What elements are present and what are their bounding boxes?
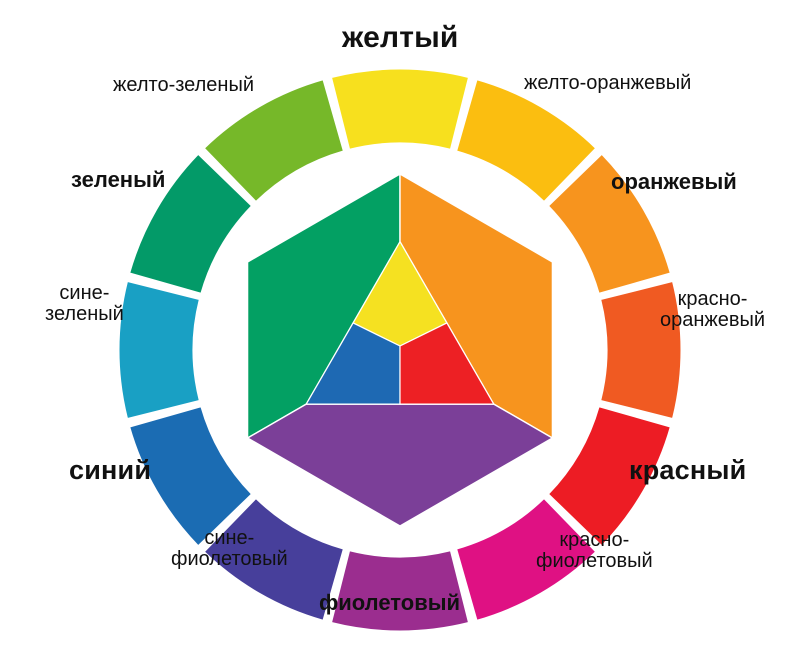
label-red-violet: красно- фиолетовый: [536, 530, 653, 572]
color-wheel-diagram: желтыйжелто-оранжевыйоранжевыйкрасно-ора…: [0, 0, 800, 660]
label-red: красный: [629, 456, 746, 485]
label-yellow-orange: желто-оранжевый: [524, 73, 691, 94]
ring-segment: сине-зеленый: [119, 282, 199, 419]
label-red-orange: красно- оранжевый: [660, 289, 765, 331]
label-blue-violet: сине- фиолетовый: [171, 528, 288, 570]
hex-violet: фиолетовый: [248, 404, 553, 526]
label-blue: синий: [69, 456, 151, 485]
label-yellow-green: желто-зеленый: [113, 75, 254, 96]
label-blue-green: сине- зеленый: [45, 283, 124, 325]
label-orange: оранжевый: [611, 170, 737, 193]
label-yellow: желтый: [342, 22, 459, 54]
label-green: зеленый: [71, 168, 165, 191]
ring-segment: желтый: [332, 69, 469, 149]
label-violet: фиолетовый: [319, 591, 460, 614]
